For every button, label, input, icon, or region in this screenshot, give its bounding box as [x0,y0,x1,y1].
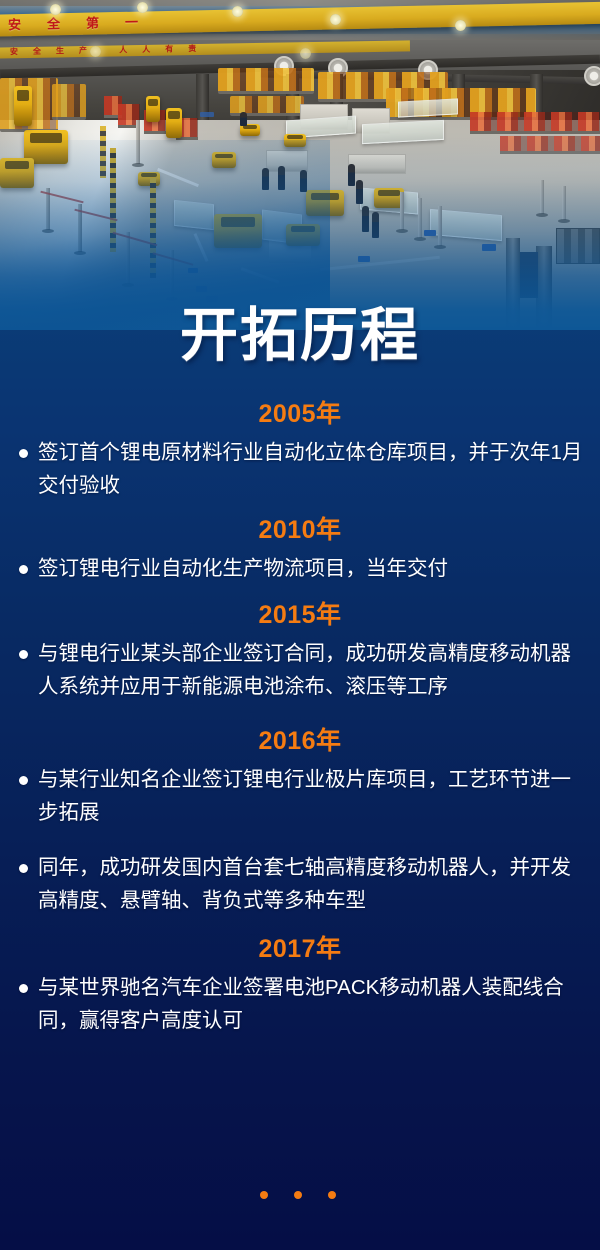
promo-poster: 安全第一 安全生产 人人有责 [0,0,600,1250]
list-item: 同年，成功研发国内首台套七轴高精度移动机器人，并开发高精度、悬臂轴、背负式等多种… [0,851,600,917]
list-item: 与锂电行业某头部企业签订合同，成功研发高精度移动机器人系统并应用于新能源电池涂布… [0,637,600,703]
timeline-section-2017: 2017年 与某世界驰名汽车企业签署电池PACK移动机器人装配线合同，赢得客户高… [0,933,600,1037]
list-item-text: 与某世界驰名汽车企业签署电池PACK移动机器人装配线合同，赢得客户高度认可 [38,976,564,1032]
timeline-year: 2010年 [0,514,600,546]
timeline-year: 2017年 [0,933,600,965]
bullet-dot-icon [19,565,28,574]
list-item: 签订锂电行业自动化生产物流项目，当年交付 [0,552,600,585]
list-item: 与某行业知名企业签订锂电行业极片库项目，工艺环节进一步拓展 [0,763,600,829]
bullet-dot-icon [19,776,28,785]
bullet-dot-icon [19,864,28,873]
list-item-text: 与某行业知名企业签订锂电行业极片库项目，工艺环节进一步拓展 [38,768,571,824]
list-item-text: 签订锂电行业自动化生产物流项目，当年交付 [38,557,448,580]
timeline-bullets: 与某行业知名企业签订锂电行业极片库项目，工艺环节进一步拓展 同年，成功研发国内首… [0,763,600,917]
timeline-bullets: 签订首个锂电原材料行业自动化立体仓库项目，并于次年1月交付验收 [0,436,600,502]
list-item: 签订首个锂电原材料行业自动化立体仓库项目，并于次年1月交付验收 [0,436,600,502]
timeline-section-2010: 2010年 签订锂电行业自动化生产物流项目，当年交付 [0,514,600,585]
timeline-year: 2005年 [0,398,600,430]
timeline-section-2005: 2005年 签订首个锂电原材料行业自动化立体仓库项目，并于次年1月交付验收 [0,398,600,502]
timeline-section-2015: 2015年 与锂电行业某头部企业签订合同，成功研发高精度移动机器人系统并应用于新… [0,599,600,703]
factory-floor-photo: 安全第一 安全生产 人人有责 [0,0,600,330]
pagination-dot[interactable] [328,1191,336,1199]
timeline-bullets: 与某世界驰名汽车企业签署电池PACK移动机器人装配线合同，赢得客户高度认可 [0,971,600,1037]
timeline-bullets: 与锂电行业某头部企业签订合同，成功研发高精度移动机器人系统并应用于新能源电池涂布… [0,637,600,703]
timeline-year: 2016年 [0,725,600,757]
list-item-text: 签订首个锂电原材料行业自动化立体仓库项目，并于次年1月交付验收 [38,441,582,497]
timeline-section-2016: 2016年 与某行业知名企业签订锂电行业极片库项目，工艺环节进一步拓展 同年，成… [0,725,600,917]
bullet-dot-icon [19,449,28,458]
bullet-dot-icon [19,650,28,659]
list-item-text: 与锂电行业某头部企业签订合同，成功研发高精度移动机器人系统并应用于新能源电池涂布… [38,642,571,698]
pagination-dots[interactable] [0,1186,600,1204]
bullet-dot-icon [19,984,28,993]
pagination-dot[interactable] [260,1191,268,1199]
timeline-year: 2015年 [0,599,600,631]
timeline: 2005年 签订首个锂电原材料行业自动化立体仓库项目，并于次年1月交付验收 20… [0,398,600,1041]
pagination-dot[interactable] [294,1191,302,1199]
timeline-bullets: 签订锂电行业自动化生产物流项目，当年交付 [0,552,600,585]
list-item-text: 同年，成功研发国内首台套七轴高精度移动机器人，并开发高精度、悬臂轴、背负式等多种… [38,856,571,912]
list-item: 与某世界驰名汽车企业签署电池PACK移动机器人装配线合同，赢得客户高度认可 [0,971,600,1037]
page-title: 开拓历程 [0,300,600,372]
